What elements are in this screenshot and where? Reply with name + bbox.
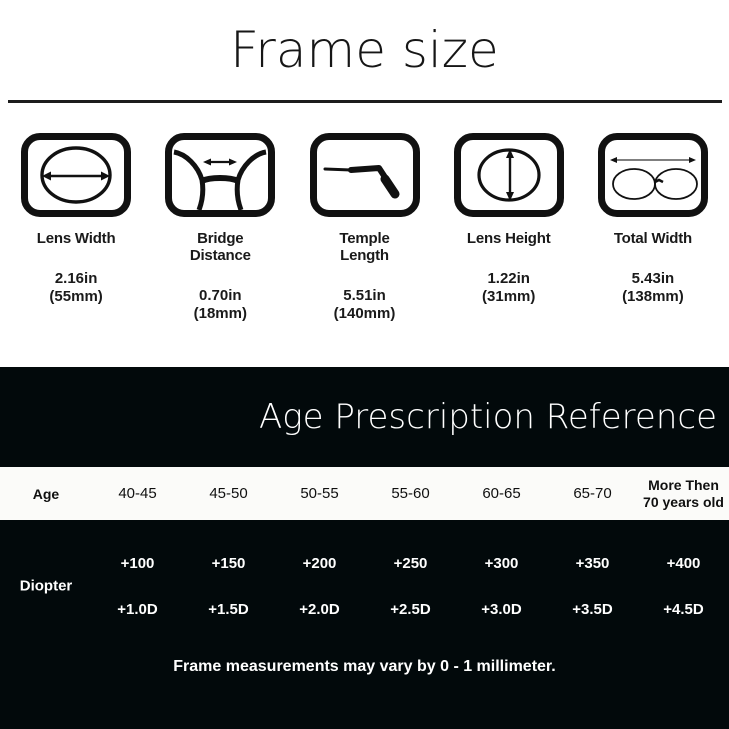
spec-bridge-distance: Bridge Distance 0.70in (18mm) — [148, 133, 292, 322]
age-cell-1: 45-50 — [183, 485, 274, 503]
diopter-decimal-4: +3.0D — [456, 601, 547, 618]
page-title: Frame size — [230, 25, 499, 75]
diopter-numeric-5: +350 — [547, 555, 638, 572]
spec-label-line2: Length — [340, 247, 389, 264]
age-cell-6: More Then 70 years old — [638, 477, 729, 511]
age-cell-3: 55-60 — [365, 485, 456, 503]
spec-total-width: Total Width 5.43in (138mm) — [581, 133, 725, 322]
spec-label: Lens Height — [467, 231, 551, 248]
diopter-numeric-3: +250 — [365, 555, 456, 572]
spec-label: Total Width — [614, 231, 692, 248]
spec-value: 2.16in (55mm) — [49, 270, 102, 305]
spec-lens-height: Lens Height 1.22in (31mm) — [437, 133, 581, 322]
spec-label: Lens Width — [37, 231, 116, 248]
spec-label-line1: Temple — [339, 230, 389, 247]
age-cell-2: 50-55 — [274, 485, 365, 503]
diopter-decimal-2: +2.0D — [274, 601, 365, 618]
spec-label-line1: Bridge — [197, 230, 243, 247]
age-cell-text-line1: More Then — [648, 477, 719, 493]
spec-temple-length: Temple Length 5.51in (140mm) — [292, 133, 436, 322]
diopter-numeric-1: +150 — [183, 555, 274, 572]
prescription-banner: Age Prescription Reference — [0, 367, 729, 467]
diopter-numeric-6: +400 — [638, 555, 729, 572]
prescription-banner-title: Age Prescription Reference — [259, 400, 717, 434]
spec-label-line1: Total Width — [614, 230, 692, 247]
bridge-distance-icon — [165, 133, 275, 217]
spec-label: Bridge Distance — [190, 231, 251, 265]
spec-lens-width: Lens Width 2.16in (55mm) — [4, 133, 148, 322]
diopter-decimal-5: +3.5D — [547, 601, 638, 618]
lens-height-icon — [454, 133, 564, 217]
title-area: Frame size — [0, 0, 729, 100]
spec-value-inches: 0.70in — [199, 287, 242, 304]
spec-value-mm: (31mm) — [482, 288, 535, 306]
age-cell-text: 60-65 — [482, 485, 520, 502]
age-header-row: Age 40-45 45-50 50-55 55-60 60-65 65-70 … — [0, 467, 729, 520]
diopter-decimal-6: +4.5D — [638, 601, 729, 618]
age-cell-text: 65-70 — [573, 485, 611, 502]
spec-value: 0.70in (18mm) — [194, 287, 247, 322]
spec-value: 5.43in (138mm) — [622, 270, 684, 305]
measurement-footnote: Frame measurements may vary by 0 - 1 mil… — [0, 658, 729, 676]
age-cell-text: 55-60 — [391, 485, 429, 502]
spec-label-line1: Lens Width — [37, 230, 116, 247]
diopter-block: Diopter +100 +150 +200 +250 +300 +350 +4… — [0, 520, 729, 652]
age-cell-text: 40-45 — [118, 485, 156, 502]
spec-value-mm: (18mm) — [194, 305, 247, 323]
spec-value-mm: (140mm) — [334, 305, 396, 323]
spec-label-line1: Lens Height — [467, 230, 551, 247]
diopter-decimal-3: +2.5D — [365, 601, 456, 618]
diopter-numeric-2: +200 — [274, 555, 365, 572]
age-cell-text: 45-50 — [209, 485, 247, 502]
diopter-row-label: Diopter — [0, 578, 92, 595]
spec-value-inches: 1.22in — [487, 270, 530, 287]
age-prescription-section: Age Prescription Reference Age 40-45 45-… — [0, 367, 729, 729]
total-width-icon — [598, 133, 708, 217]
spec-value-inches: 2.16in — [55, 270, 98, 287]
spec-label-line2: Distance — [190, 247, 251, 264]
spec-strip: Lens Width 2.16in (55mm) Bridge — [0, 103, 729, 322]
age-row-label: Age — [0, 486, 92, 502]
diopter-numeric-0: +100 — [92, 555, 183, 572]
spec-value-mm: (55mm) — [49, 288, 102, 306]
diopter-numeric-row: +100 +150 +200 +250 +300 +350 +400 — [0, 540, 729, 586]
age-cell-5: 65-70 — [547, 485, 638, 503]
spec-value: 1.22in (31mm) — [482, 270, 535, 305]
spec-value-inches: 5.51in — [343, 287, 386, 304]
spec-label: Temple Length — [339, 231, 389, 265]
spec-value: 5.51in (140mm) — [334, 287, 396, 322]
diopter-decimal-1: +1.5D — [183, 601, 274, 618]
spec-value-inches: 5.43in — [632, 270, 675, 287]
age-cell-4: 60-65 — [456, 485, 547, 503]
diopter-decimal-0: +1.0D — [92, 601, 183, 618]
frame-size-infographic: Frame size Lens Width 2.16in (55mm) — [0, 0, 729, 729]
lens-width-icon — [21, 133, 131, 217]
temple-length-icon — [310, 133, 420, 217]
diopter-numeric-4: +300 — [456, 555, 547, 572]
age-cell-text-line2: 70 years old — [638, 494, 729, 511]
age-cell-text: 50-55 — [300, 485, 338, 502]
age-cell-0: 40-45 — [92, 485, 183, 503]
spec-value-mm: (138mm) — [622, 288, 684, 306]
diopter-decimal-row: +1.0D +1.5D +2.0D +2.5D +3.0D +3.5D +4.5… — [0, 586, 729, 632]
